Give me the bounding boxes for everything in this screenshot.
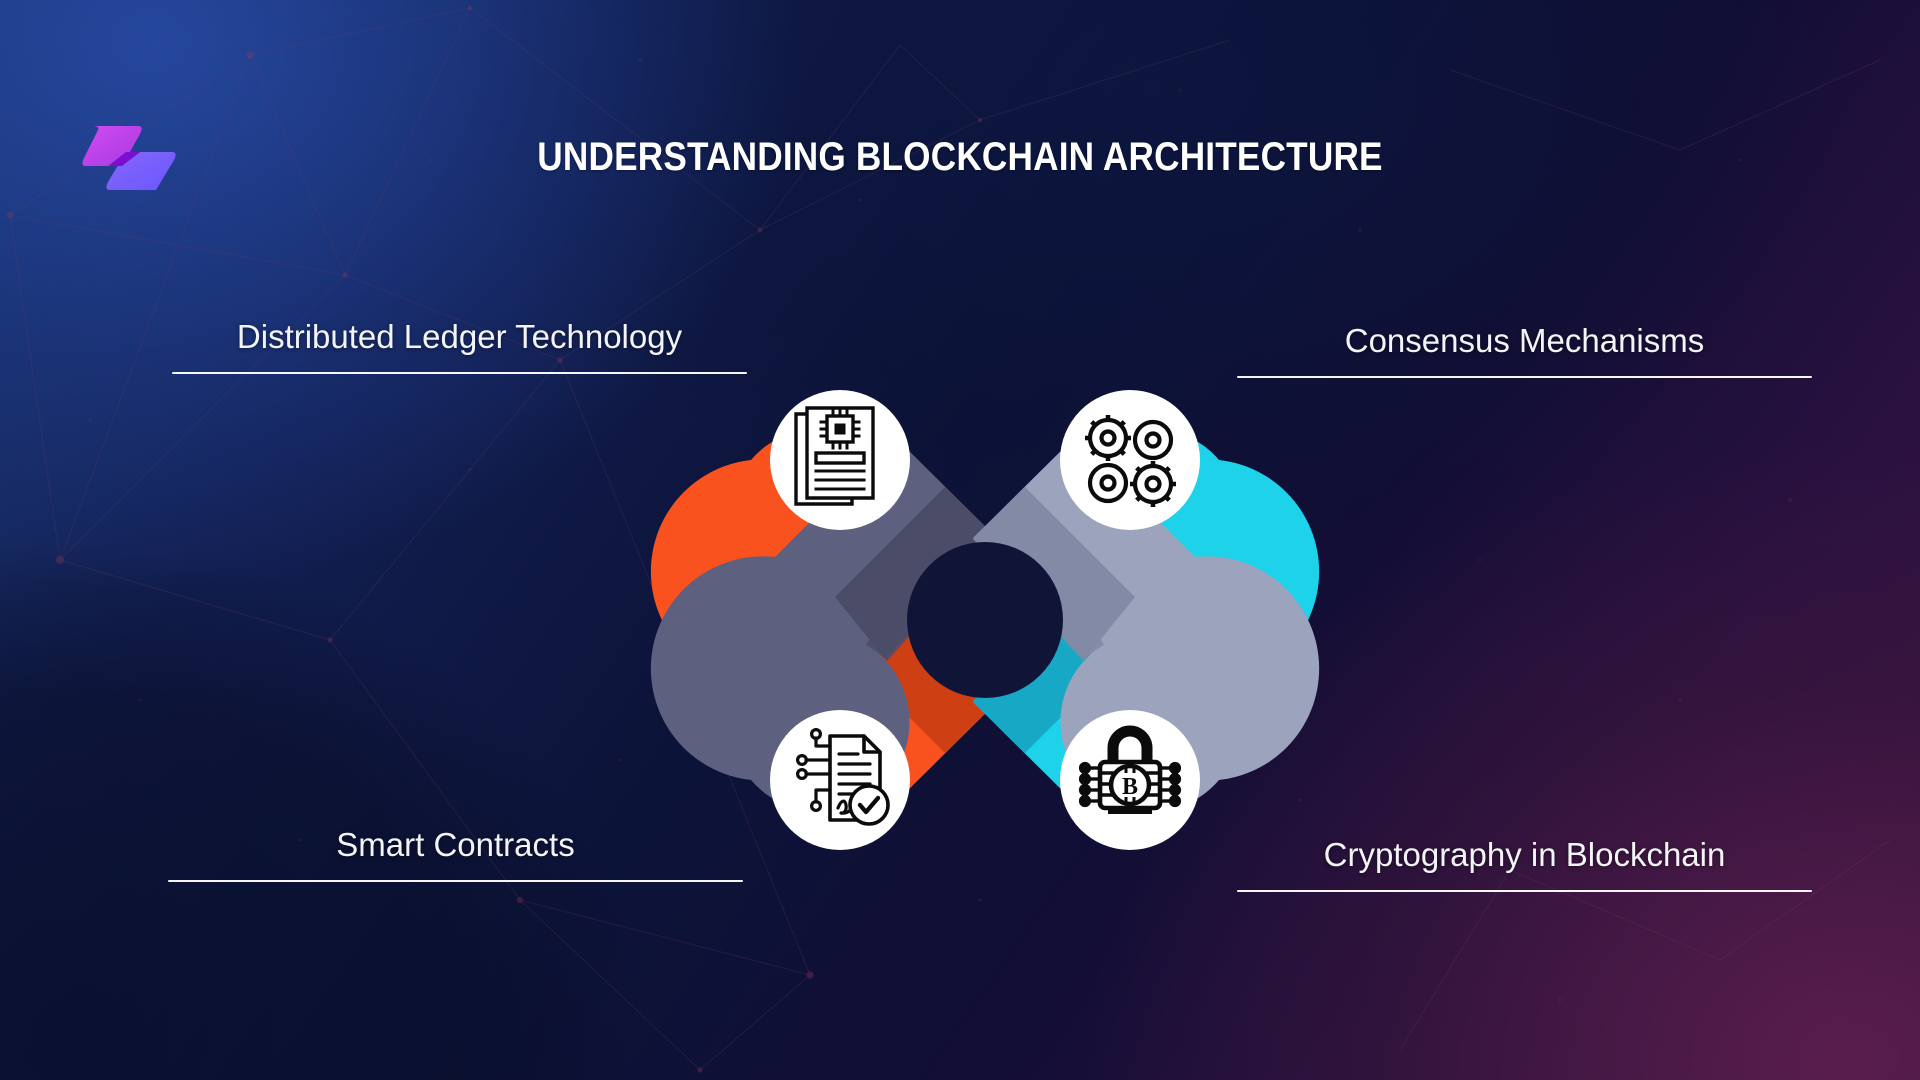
slide-canvas: UNDERSTANDING BLOCKCHAIN ARCHITECTURE Di… — [0, 0, 1920, 1080]
icon-disc-cryptography-in-blockchain[interactable]: B — [1060, 710, 1200, 850]
page-title: UNDERSTANDING BLOCKCHAIN ARCHITECTURE — [115, 135, 1805, 180]
label-underline — [172, 372, 747, 375]
blockchain-x-diagram: B — [735, 355, 1235, 885]
label-text: Distributed Ledger Technology — [172, 318, 747, 356]
label-underline — [1237, 376, 1812, 379]
label-underline — [168, 880, 743, 883]
icon-disc-consensus-mechanisms[interactable] — [1060, 390, 1200, 530]
quadrant-label-distributed-ledger-technology: Distributed Ledger Technology — [172, 318, 747, 374]
label-text: Cryptography in Blockchain — [1237, 836, 1812, 874]
quadrant-label-cryptography-in-blockchain: Cryptography in Blockchain — [1237, 836, 1812, 892]
documents-chip-icon — [796, 408, 873, 504]
icon-disc-smart-contracts[interactable] — [770, 710, 910, 850]
label-text: Smart Contracts — [168, 826, 743, 864]
quadrant-label-smart-contracts: Smart Contracts — [168, 826, 743, 882]
label-text: Consensus Mechanisms — [1237, 322, 1812, 360]
label-underline — [1237, 890, 1812, 893]
quadrant-label-consensus-mechanisms: Consensus Mechanisms — [1237, 322, 1812, 378]
icon-disc-distributed-ledger-technology[interactable] — [770, 390, 910, 530]
svg-text:B: B — [1122, 774, 1138, 800]
center-hub-circle — [907, 542, 1063, 698]
